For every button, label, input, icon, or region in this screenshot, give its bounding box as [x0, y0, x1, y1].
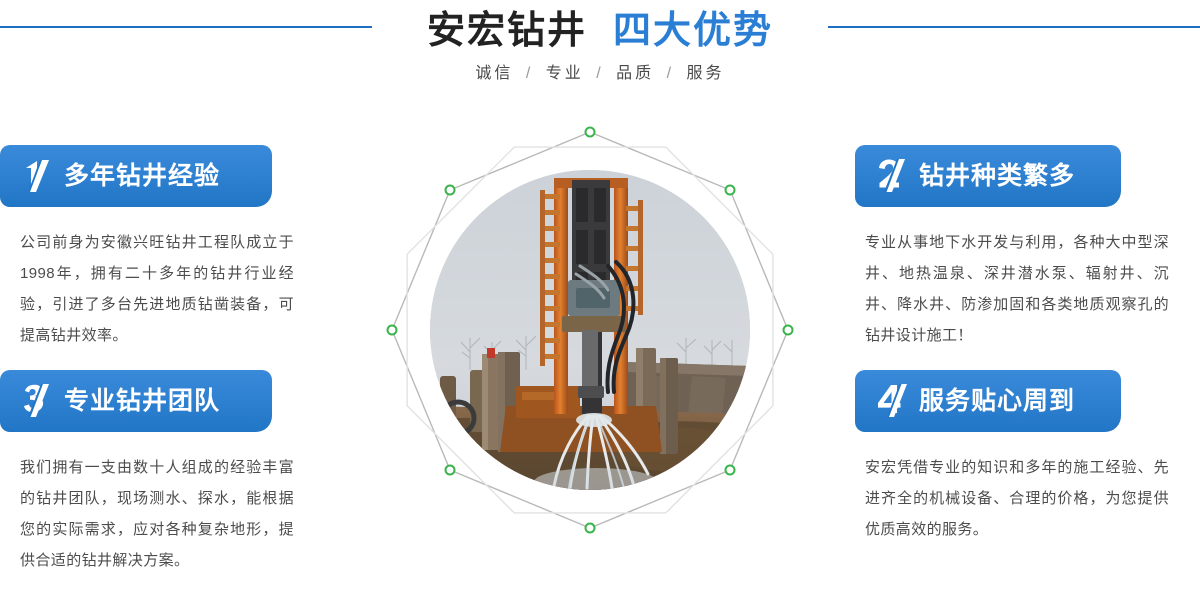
feature-title-4: 服务贴心周到 [919, 386, 1075, 416]
polygon-node-w [388, 326, 397, 335]
feature-body-3: 我们拥有一支由数十人组成的经验丰富的钻井团队，现场测水、探水，能根据您的实际需求… [0, 452, 310, 576]
feature-card-1[interactable]: 多年钻井经验 公司前身为安徽兴旺钻井工程队成立于1998年，拥有二十多年的钻井行… [0, 145, 345, 351]
center-graphic [370, 110, 810, 550]
number-1-icon [18, 154, 58, 198]
polygon-node-e [784, 326, 793, 335]
feature-badge-3: 专业钻井团队 [0, 370, 272, 432]
subtitle-item-0: 诚信 [475, 65, 513, 82]
subtitle-item-2: 品质 [616, 65, 654, 82]
number-2-icon [873, 154, 913, 198]
subtitle-item-1: 专业 [546, 65, 584, 82]
subtitle-item-3: 服务 [687, 65, 725, 82]
feature-body-4: 安宏凭借专业的知识和多年的施工经验、先进齐全的机械设备、合理的价格，为您提供优质… [855, 452, 1185, 545]
drilling-rig-photo [430, 170, 750, 490]
feature-title-2: 钻井种类繁多 [919, 161, 1075, 191]
subtitle-separator-1: / [591, 65, 608, 82]
feature-body-2: 专业从事地下水开发与利用，各种大中型深井、地热温泉、深井潜水泵、辐射井、沉井、降… [855, 227, 1185, 351]
feature-card-2[interactable]: 钻井种类繁多 专业从事地下水开发与利用，各种大中型深井、地热温泉、深井潜水泵、辐… [855, 145, 1200, 351]
feature-badge-2: 钻井种类繁多 [855, 145, 1121, 207]
feature-badge-4: 服务贴心周到 [855, 370, 1121, 432]
title-company: 安宏钻井 [427, 10, 587, 52]
feature-body-1: 公司前身为安徽兴旺钻井工程队成立于1998年，拥有二十多年的钻井行业经验，引进了… [0, 227, 310, 351]
page-title: 安宏钻井四大优势 [0, 8, 1200, 54]
title-highlight: 四大优势 [613, 10, 773, 52]
subtitle-separator-2: / [662, 65, 679, 82]
number-4-icon [873, 379, 913, 423]
header: 安宏钻井四大优势 诚信 / 专业 / 品质 / 服务 [0, 0, 1200, 115]
polygon-node-s [586, 524, 595, 533]
number-3-icon [18, 379, 58, 423]
polygon-node-n [586, 128, 595, 137]
feature-title-3: 专业钻井团队 [64, 386, 220, 416]
feature-card-3[interactable]: 专业钻井团队 我们拥有一支由数十人组成的经验丰富的钻井团队，现场测水、探水，能根… [0, 370, 345, 576]
feature-badge-1: 多年钻井经验 [0, 145, 272, 207]
subtitle-separator-0: / [521, 65, 538, 82]
feature-card-4[interactable]: 服务贴心周到 安宏凭借专业的知识和多年的施工经验、先进齐全的机械设备、合理的价格… [855, 370, 1200, 545]
subtitle: 诚信 / 专业 / 品质 / 服务 [0, 62, 1200, 86]
feature-title-1: 多年钻井经验 [64, 161, 220, 191]
advantages-infographic: 安宏钻井四大优势 诚信 / 专业 / 品质 / 服务 多年钻井经验 公司前身为安… [0, 0, 1200, 600]
